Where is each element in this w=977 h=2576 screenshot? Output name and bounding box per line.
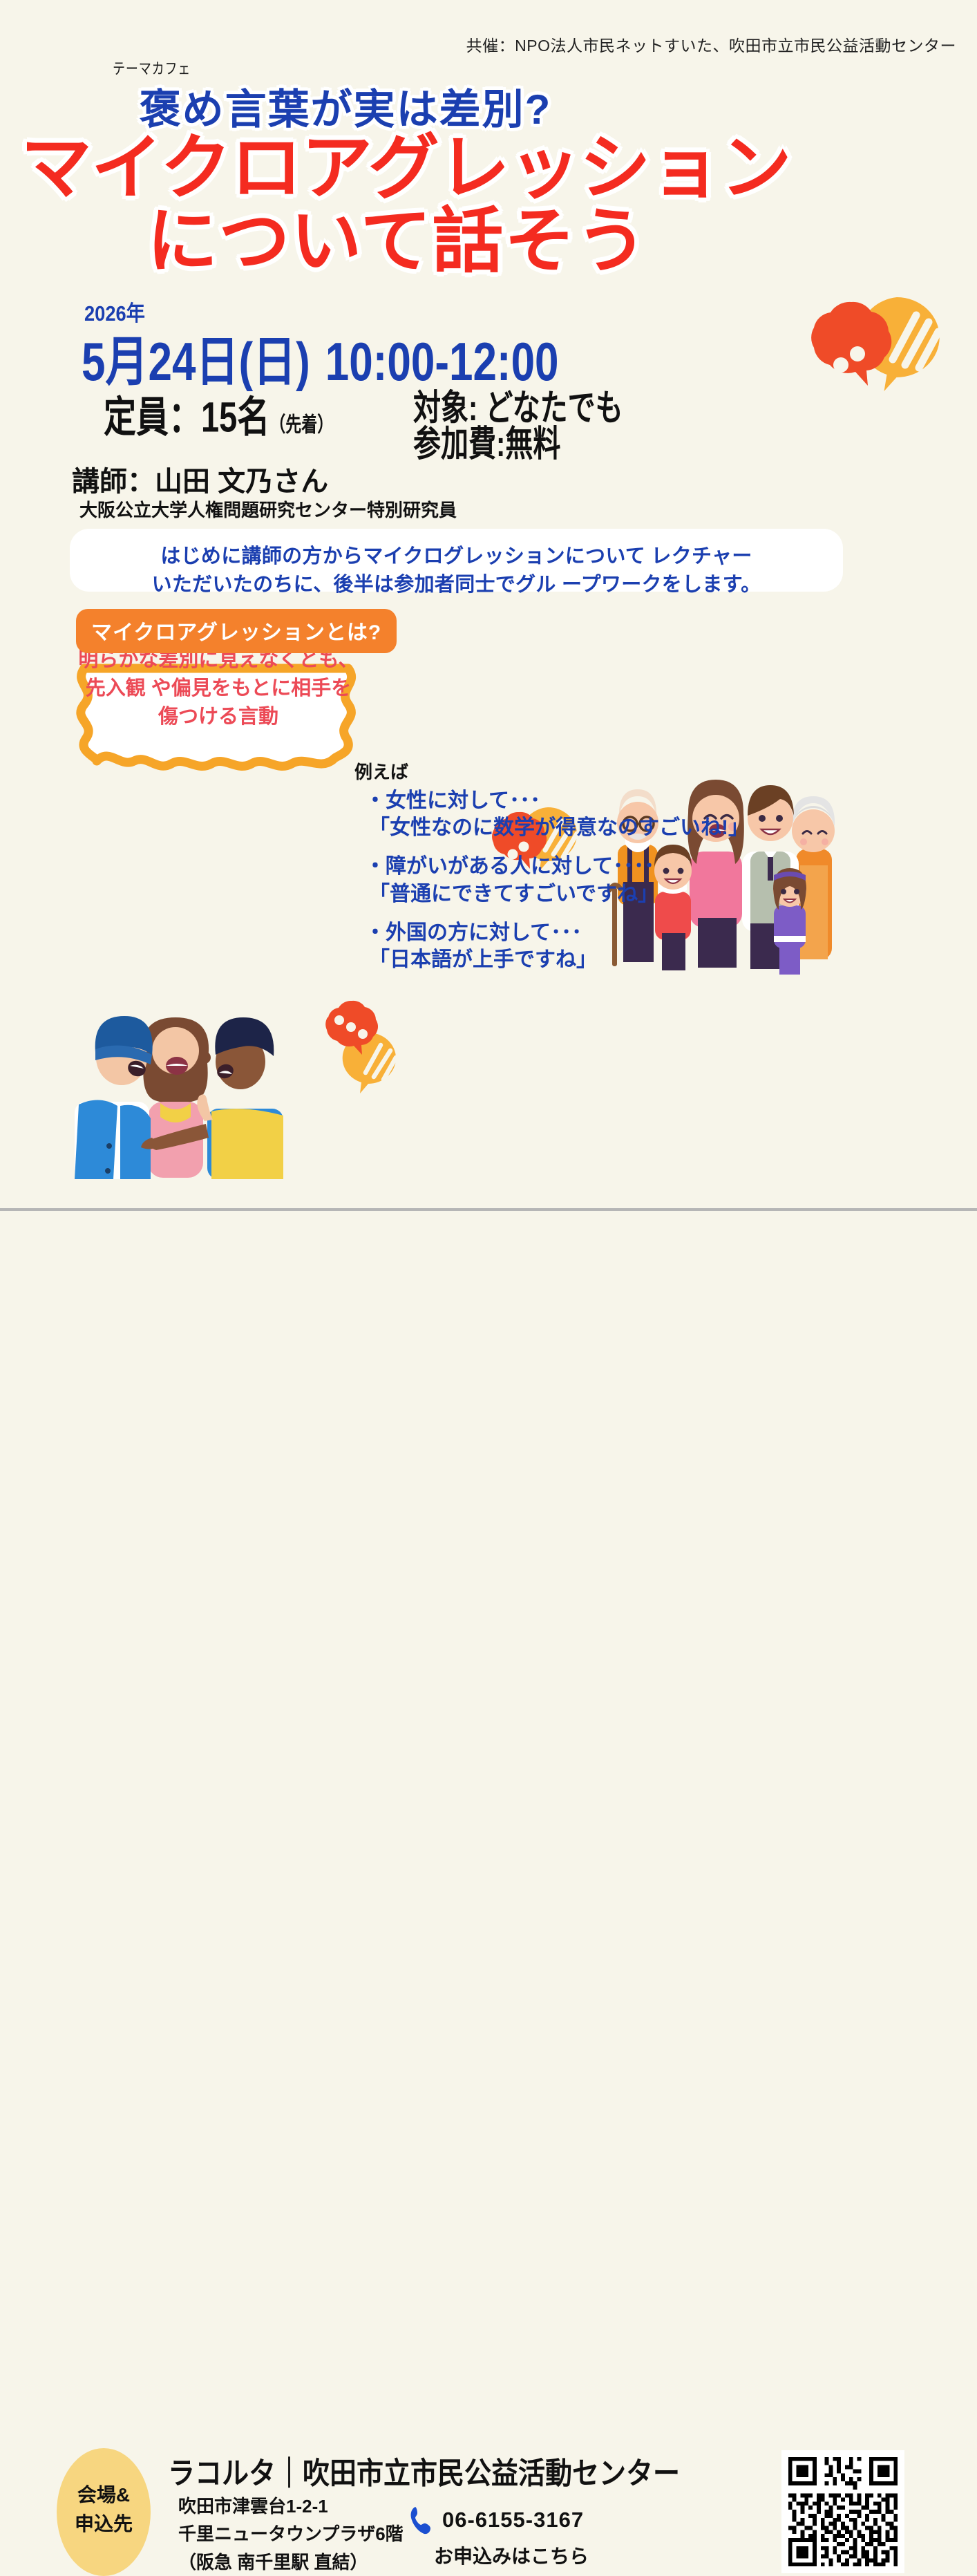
speech-bubbles-top-right — [781, 276, 977, 429]
address-line-1: 吹田市津雲台1-2-1 — [178, 2492, 404, 2520]
venue-address: 吹田市津雲台1-2-1 千里ニュータウンプラザ6階 （阪急 南千里駅 直結） — [178, 2492, 404, 2576]
participation-fee: 参加費:無料 — [413, 415, 560, 467]
definition-line-2: 先入観 や偏見をもとに相手を — [66, 675, 370, 703]
example-context: ・外国の方に対して･･･ — [359, 920, 746, 946]
description-line-2: いただいたのちに、後半は参加者同士でグル ープワークをします。 — [70, 568, 843, 597]
speech-bubble-pair-icon — [781, 276, 977, 429]
poster-root: 共催：NPO法人市民ネットすいた、吹田市立市民公益活動センター テーマカフェ 褒… — [0, 0, 977, 1382]
definition-line-3: 傷つける言動 — [66, 703, 370, 731]
speech-bubble-pair-icon — [314, 990, 425, 1100]
left-person-figure — [75, 1016, 153, 1179]
diverse-people-illustration — [69, 980, 283, 1181]
telephone-number[interactable]: 06-6155-3167 — [442, 2508, 584, 2532]
description-box: はじめに講師の方からマイクログレッションについて レクチャー いただいたのちに、… — [70, 529, 843, 592]
venue-badge: 会場& 申込先 — [57, 2448, 151, 2576]
example-quote: 「普通にできてすごいですね」 — [359, 881, 746, 908]
footer-section: 会場& 申込先 ラコルタ｜吹田市立市民公益活動センター 吹田市津雲台1-2-1 … — [0, 1211, 977, 1382]
capacity-row: 定員：15名（先着） — [104, 382, 333, 444]
lecturer-affiliation: 大阪公立大学人権問題研究センター特別研究員 — [79, 496, 457, 522]
address-line-2: 千里ニュータウンプラザ6階 — [178, 2520, 404, 2548]
telephone-row: 06-6155-3167 — [409, 2505, 584, 2535]
example-quote: 「女性なのに数学が得意なのすごいね!」 — [359, 814, 746, 841]
organization-name: ラコルタ｜吹田市立市民公益活動センター — [168, 2450, 680, 2493]
address-line-3: （阪急 南千里駅 直結） — [178, 2548, 404, 2576]
cohost-line: 共催：NPO法人市民ネットすいた、吹田市立市民公益活動センター — [466, 32, 956, 56]
qr-code-image — [784, 2453, 902, 2570]
example-item: ・女性に対して･･･ 「女性なのに数学が得意なのすごいね!」 — [359, 788, 746, 841]
definition-tag: マイクロアグレッションとは? — [76, 609, 397, 653]
example-context: ・障がいがある人に対して････ — [359, 854, 746, 880]
phone-icon — [409, 2505, 433, 2535]
speech-bubbles-bottom-left — [314, 990, 425, 1100]
definition-text: 明らかな差別に見えなくとも、 先入観 や偏見をもとに相手を 傷つける言動 — [66, 646, 370, 732]
qr-code[interactable] — [781, 2450, 904, 2573]
venue-badge-line-1: 会場& — [57, 2480, 151, 2508]
description-line-1: はじめに講師の方からマイクログレッションについて レクチャー — [70, 540, 843, 569]
apply-here-label: お申込みはこちら — [434, 2541, 589, 2569]
three-people-illustration — [69, 980, 283, 1181]
capacity-value: 15名 — [201, 393, 269, 441]
poster-title-line-1: マイクロアグレッション — [0, 132, 815, 203]
example-item: ・外国の方に対して･･･ 「日本語が上手ですね」 — [359, 920, 746, 973]
poster-subtitle: 褒め言葉が実は差別? — [0, 76, 691, 136]
example-context: ・女性に対して･･･ — [359, 788, 746, 814]
example-item: ・障がいがある人に対して････ 「普通にできてすごいですね」 — [359, 854, 746, 907]
poster-title-line-2: について話そう — [0, 205, 795, 276]
venue-badge-line-2: 申込先 — [57, 2509, 151, 2537]
examples-list: ・女性に対して･･･ 「女性なのに数学が得意なのすごいね!」 ・障がいがある人に… — [359, 788, 746, 986]
example-quote: 「日本語が上手ですね」 — [359, 946, 746, 973]
lecturer-name: 講師：山田 文乃さん — [72, 459, 328, 499]
capacity-note: （先着） — [269, 413, 333, 436]
capacity-label: 定員： — [104, 393, 201, 441]
